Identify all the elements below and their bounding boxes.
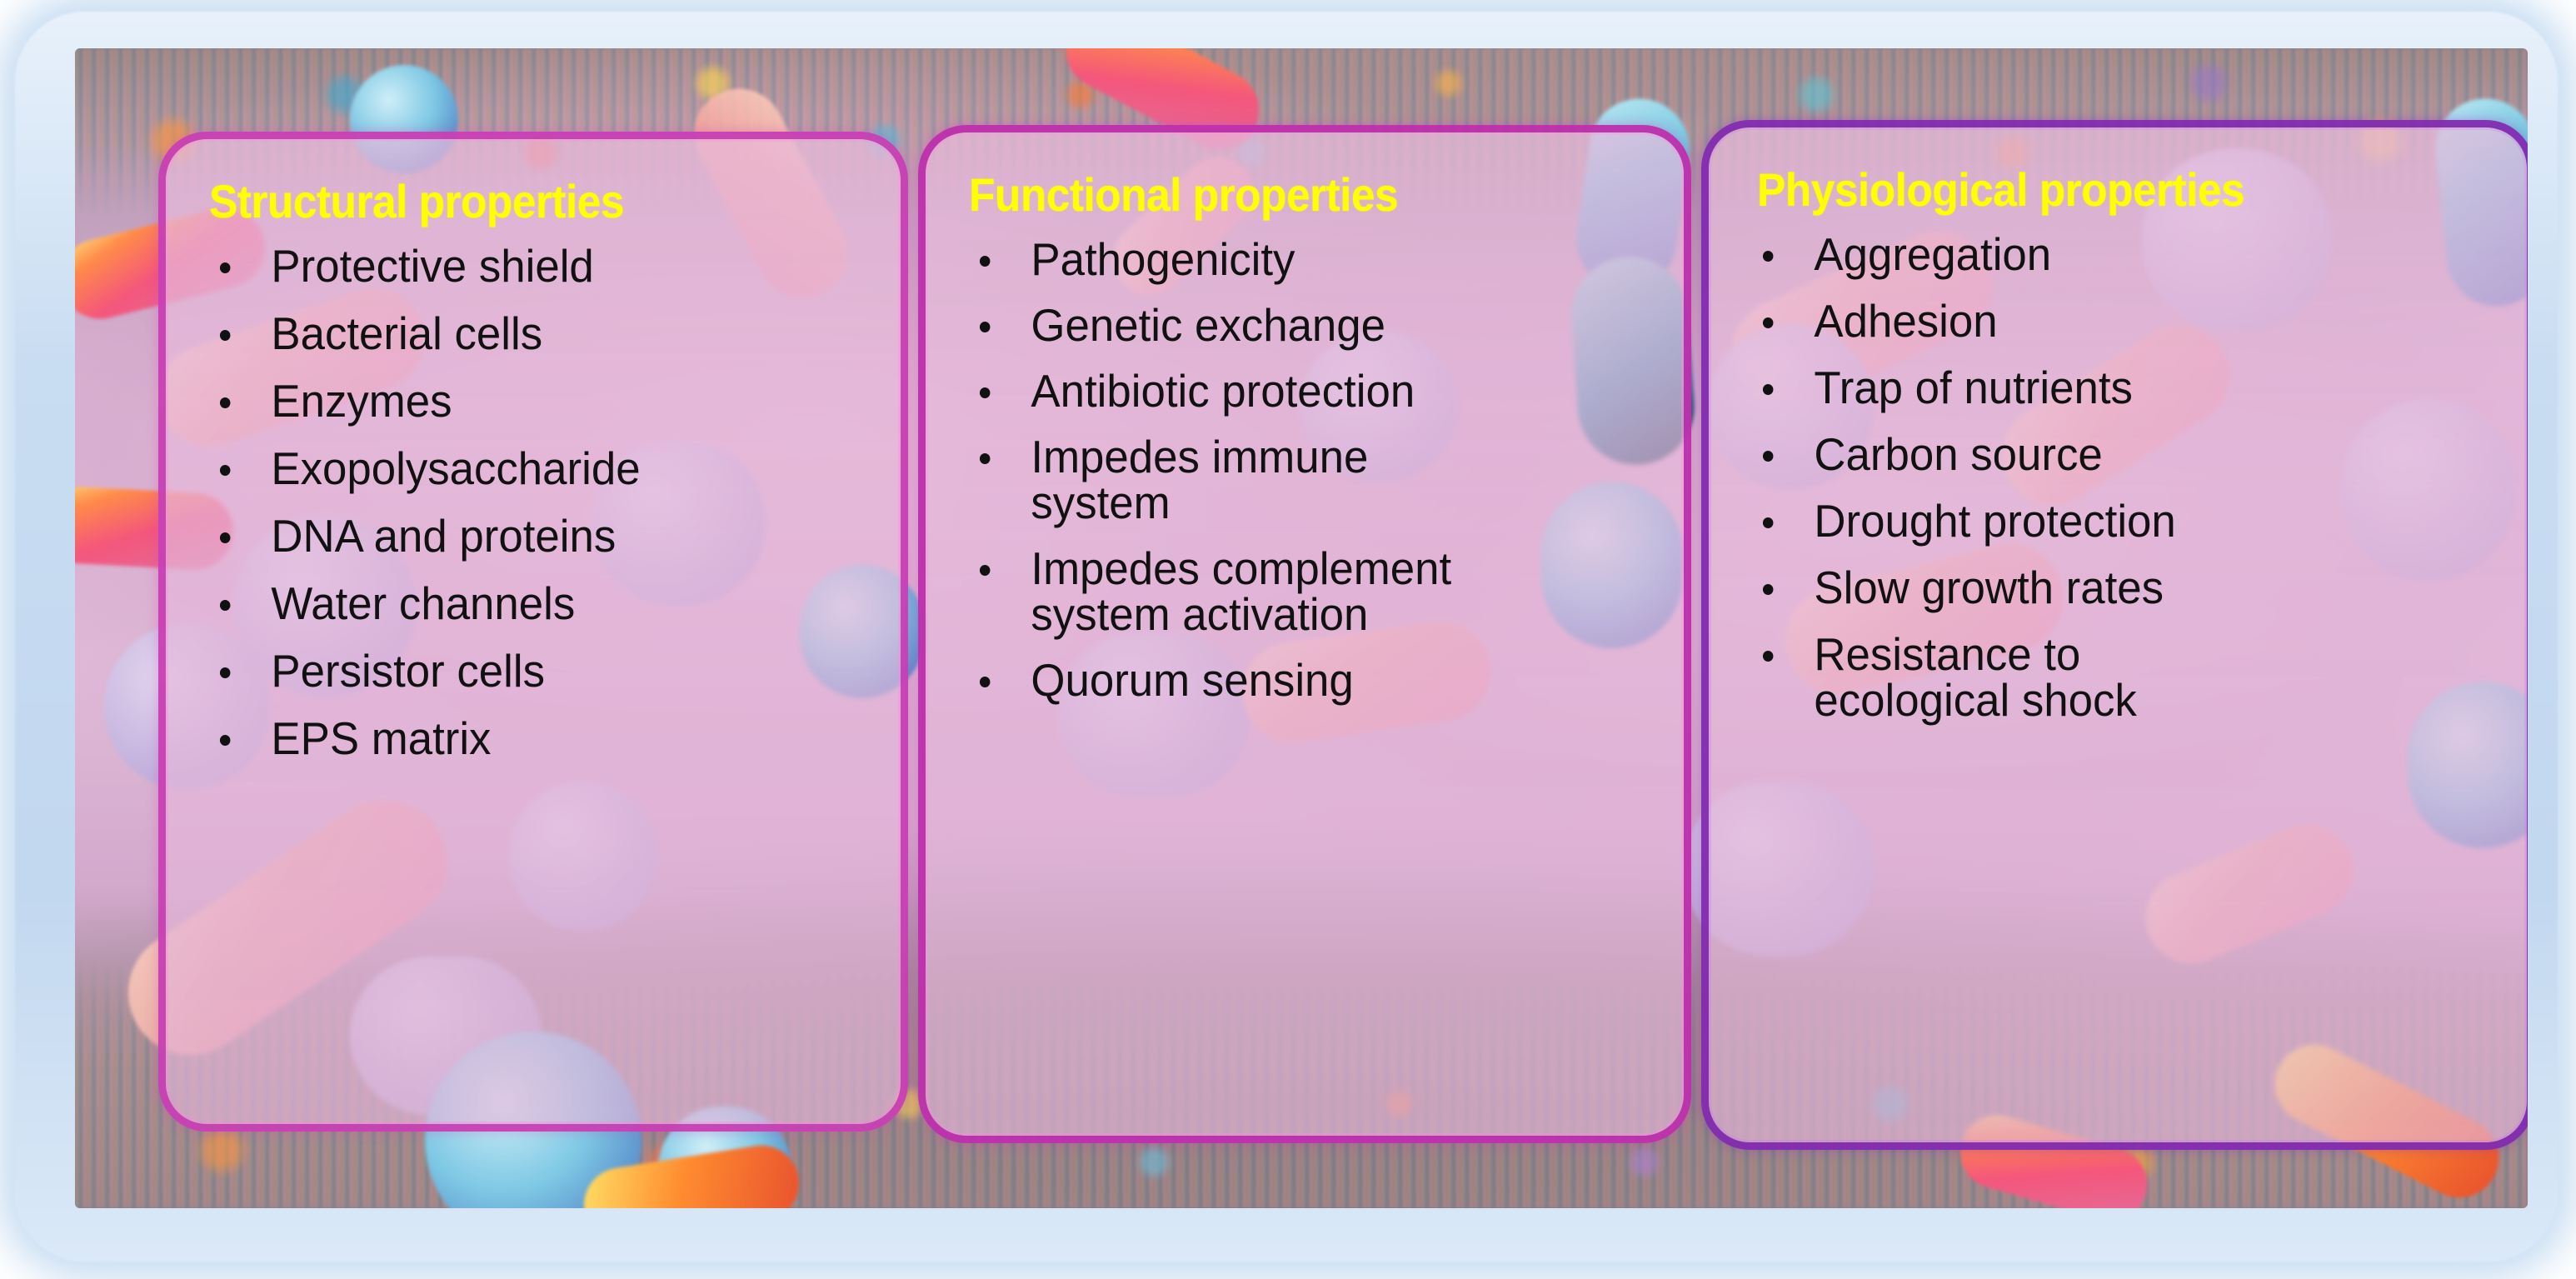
list-item-label: Pathogenicity <box>1031 233 1295 285</box>
bullet-icon <box>1763 517 1773 528</box>
panel-structural[interactable]: Structural properties Protective shield … <box>158 132 908 1132</box>
list-item: Protective shield <box>199 243 855 289</box>
list-item-label: Antibiotic protection <box>1031 365 1415 417</box>
list-item: Exopolysaccharide <box>199 446 855 492</box>
list-item: Impedes complement system activation <box>959 546 1637 637</box>
bullet-icon <box>1763 651 1773 662</box>
list-item: Water channels <box>199 581 855 627</box>
figure-root: Structural properties Protective shield … <box>0 0 2576 1279</box>
list-item-label: Carbon source <box>1814 428 2102 480</box>
bullet-icon <box>220 262 230 273</box>
list-item: Slow growth rates <box>1742 565 2478 611</box>
list-item-label: Slow growth rates <box>1814 562 2164 613</box>
bullet-icon <box>220 735 230 746</box>
list-item: Quorum sensing <box>959 657 1637 703</box>
panel-physiological[interactable]: Physiological properties Aggregation Adh… <box>1701 120 2528 1150</box>
list-item: Aggregation <box>1742 232 2478 277</box>
panel-physiological-list: Aggregation Adhesion Trap of nutrients C… <box>1742 232 2509 723</box>
bullet-icon <box>220 532 230 543</box>
bullet-icon <box>1763 584 1773 595</box>
panel-functional-list: Pathogenicity Genetic exchange Antibioti… <box>959 237 1665 703</box>
list-item-label: Aggregation <box>1814 228 2051 280</box>
panel-structural-list: Protective shield Bacterial cells Enzyme… <box>199 243 882 762</box>
list-item-label: Protective shield <box>271 240 593 292</box>
list-item-label: Persistor cells <box>271 645 545 697</box>
panel-physiological-heading: Physiological properties <box>1757 166 2449 213</box>
list-item-label: Water channels <box>271 577 575 629</box>
list-item-label: Impedes complement system activation <box>1031 542 1451 640</box>
list-item-label: Quorum sensing <box>1031 654 1353 706</box>
list-item-label: Enzymes <box>271 375 452 427</box>
list-item: DNA and proteins <box>199 513 855 559</box>
bullet-icon <box>980 322 990 332</box>
list-item: Bacterial cells <box>199 311 855 357</box>
list-item-label: Impedes immune system <box>1031 431 1368 528</box>
list-item-label: EPS matrix <box>271 712 491 764</box>
list-item-label: Exopolysaccharide <box>271 442 640 494</box>
panel-functional[interactable]: Functional properties Pathogenicity Gene… <box>918 125 1691 1143</box>
list-item: Pathogenicity <box>959 237 1637 282</box>
bullet-icon <box>220 397 230 408</box>
bullet-icon <box>1763 384 1773 395</box>
list-item-label: Bacterial cells <box>271 307 542 359</box>
bullet-icon <box>1763 451 1773 462</box>
panel-structural-heading: Structural properties <box>209 177 828 225</box>
bullet-icon <box>980 677 990 687</box>
bullet-icon <box>220 330 230 341</box>
outer-frame: Structural properties Protective shield … <box>15 12 2558 1262</box>
list-item-label: Adhesion <box>1814 295 1997 347</box>
list-item: Adhesion <box>1742 298 2478 344</box>
panel-structural-body: Structural properties Protective shield … <box>166 139 901 1124</box>
biofilm-micrograph-background: Structural properties Protective shield … <box>75 48 2528 1208</box>
bullet-icon <box>980 387 990 398</box>
list-item: Trap of nutrients <box>1742 365 2478 411</box>
list-item-label: Resistance to ecological shock <box>1814 628 2136 726</box>
bullet-icon <box>220 600 230 611</box>
panel-functional-body: Functional properties Pathogenicity Gene… <box>926 132 1684 1136</box>
bullet-icon <box>980 453 990 464</box>
list-item: Genetic exchange <box>959 302 1637 348</box>
bullet-icon <box>1763 251 1773 262</box>
list-item-label: Trap of nutrients <box>1814 362 2133 413</box>
bullet-icon <box>980 565 990 576</box>
bullet-icon <box>980 256 990 267</box>
list-item-label: Genetic exchange <box>1031 299 1385 351</box>
bullet-icon <box>220 667 230 678</box>
bullet-icon <box>220 465 230 476</box>
panel-functional-heading: Functional properties <box>969 171 1610 218</box>
list-item-label: DNA and proteins <box>271 510 616 562</box>
bullet-icon <box>1763 317 1773 328</box>
list-item: EPS matrix <box>199 716 855 762</box>
list-item: Persistor cells <box>199 648 855 694</box>
list-item-label: Drought protection <box>1814 495 2175 547</box>
list-item: Resistance to ecological shock <box>1742 632 2478 723</box>
list-item: Drought protection <box>1742 498 2478 544</box>
list-item: Antibiotic protection <box>959 368 1637 414</box>
list-item: Carbon source <box>1742 432 2478 477</box>
list-item: Impedes immune system <box>959 434 1637 526</box>
panel-physiological-body: Physiological properties Aggregation Adh… <box>1709 127 2527 1142</box>
list-item: Enzymes <box>199 378 855 424</box>
